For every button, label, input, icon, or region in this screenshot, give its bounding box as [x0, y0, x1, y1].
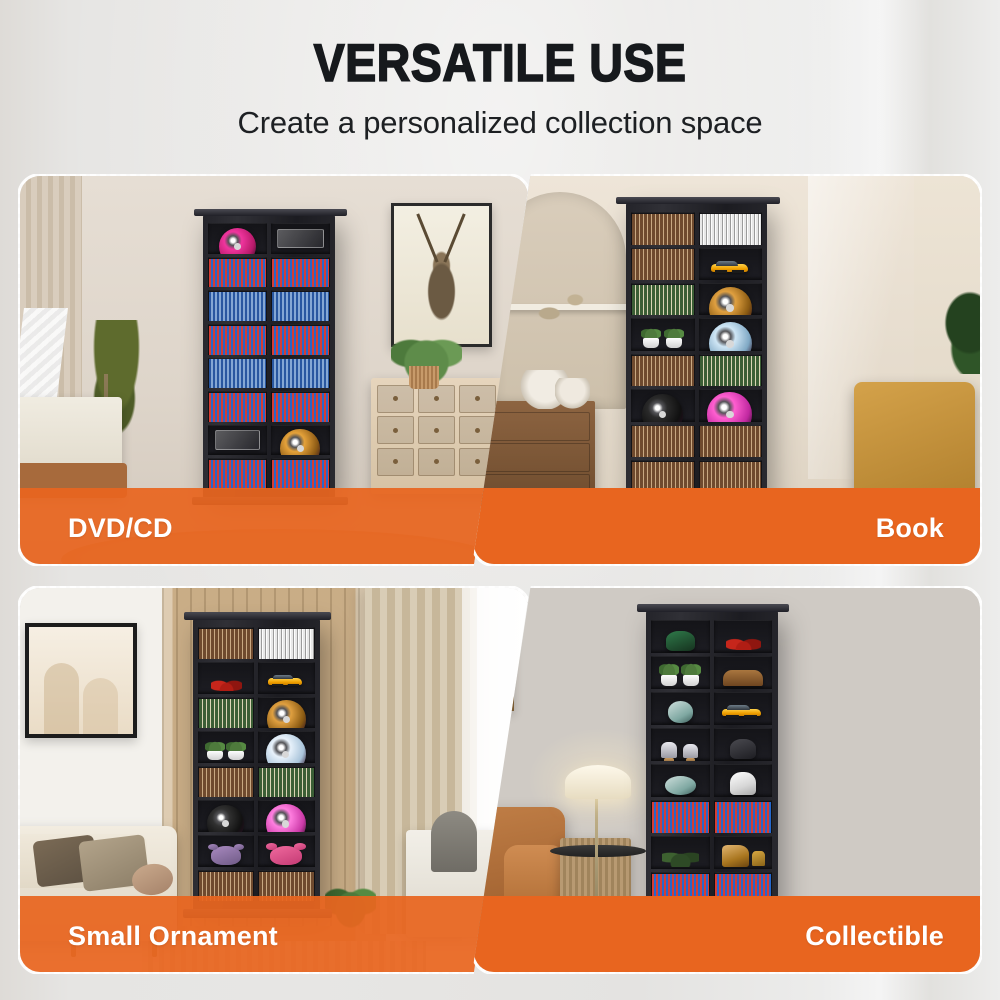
red-coral-decor	[726, 631, 761, 651]
dried-branch-decor	[525, 281, 606, 335]
deer-illustration	[407, 220, 476, 322]
panel-small-ornament[interactable]: Small Ornament	[18, 586, 530, 974]
ceramic-vase-tall	[668, 701, 694, 723]
woven-basket	[409, 366, 439, 389]
panel-label-book: Book	[876, 513, 944, 544]
panel-label-dvd-cd: DVD/CD	[68, 513, 173, 544]
panel-label-collectible: Collectible	[805, 921, 944, 952]
panel-book[interactable]: Book	[472, 174, 982, 566]
monstera-leaf	[929, 289, 980, 374]
deer-artwork-frame	[391, 203, 493, 347]
panel-label-small-ornament: Small Ornament	[68, 921, 278, 952]
treasure-chest	[723, 670, 763, 686]
trophy-cup-left	[661, 742, 677, 758]
plush-owl-toy	[211, 846, 240, 864]
david-bust-statue	[730, 772, 756, 796]
media-storage-tower	[646, 611, 778, 914]
plush-bear-toy	[270, 846, 303, 865]
framed-arch-artwork	[25, 623, 137, 738]
media-storage-tower	[626, 203, 768, 502]
feature-panel-grid: DVD/CD	[18, 174, 982, 974]
arch-shape-1	[44, 663, 79, 734]
round-ceramic-vase	[665, 776, 695, 794]
panel-dvd-cd[interactable]: DVD/CD	[18, 174, 530, 566]
page-subtitle: Create a personalized collection space	[0, 106, 1000, 140]
arch-shape-2	[83, 678, 118, 734]
trophy-cup-right	[683, 744, 698, 758]
floor-lamp-shade	[565, 765, 631, 800]
action-figure	[666, 631, 694, 651]
round-sculpture-small	[555, 378, 590, 409]
wood-dresser	[371, 378, 503, 494]
page-title: VERSATILE USE	[60, 36, 940, 92]
thinker-figurine	[730, 739, 756, 759]
driftwood-sculpture	[722, 845, 749, 867]
media-storage-tower	[193, 619, 320, 911]
yellow-sports-car-model	[722, 709, 761, 717]
bonsai-tree	[662, 846, 699, 866]
media-storage-tower	[203, 215, 335, 498]
golden-deer-figurine	[752, 851, 765, 866]
panel-collectible[interactable]: Collectible	[472, 586, 982, 974]
header: VERSATILE USE Create a personalized coll…	[0, 0, 1000, 172]
chair-backrest	[431, 811, 477, 872]
